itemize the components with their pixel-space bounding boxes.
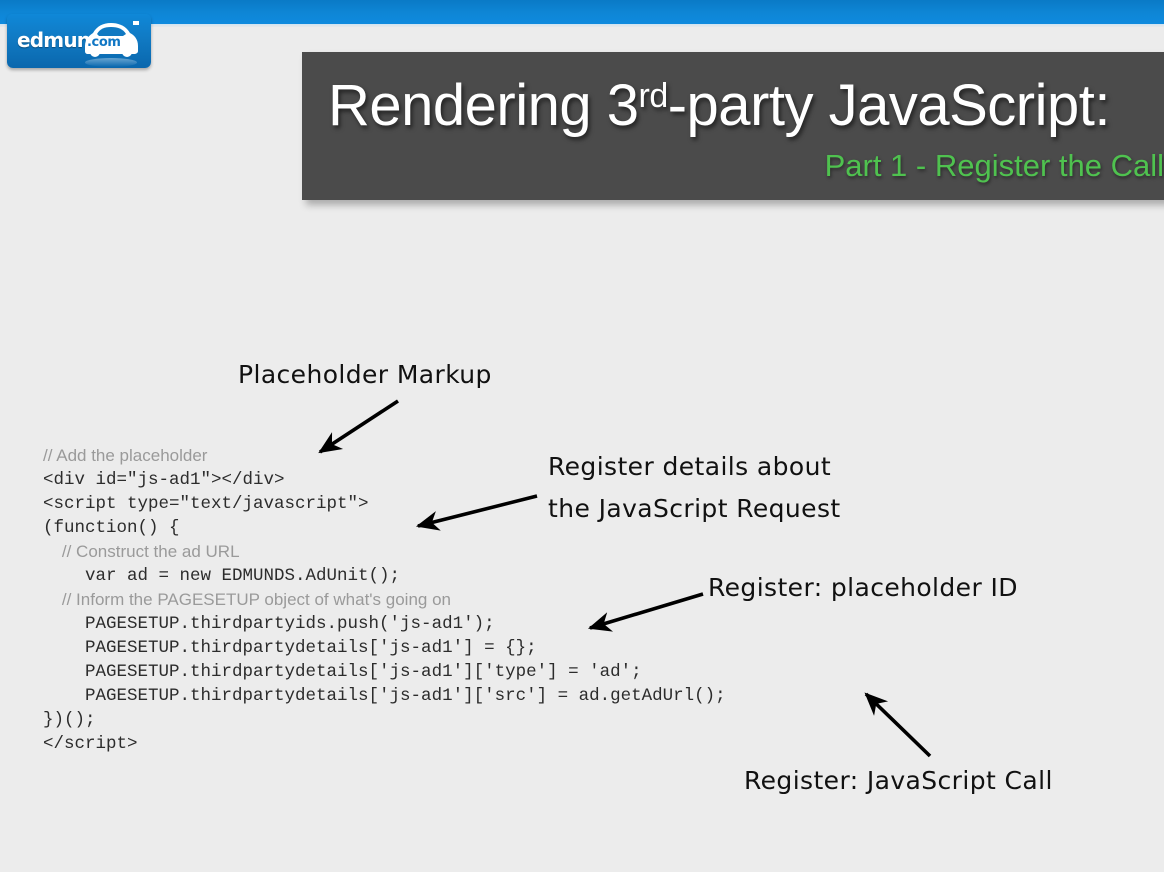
annotation-placeholder-markup: Placeholder Markup	[238, 360, 492, 389]
code-line-11: PAGESETUP.thirdpartydetails['js-ad1']['s…	[43, 684, 923, 708]
logo-dotcom-label: .com	[87, 35, 121, 50]
annotation-javascript-call: Register: JavaScript Call	[744, 766, 1053, 795]
edmunds-logo-tab[interactable]: edmunds .com	[7, 14, 151, 68]
slide-title-superscript: rd	[639, 77, 668, 115]
annotation-register-details-line1: Register details about	[548, 452, 831, 481]
code-line-12: })();	[43, 708, 923, 732]
slide-title-block: Rendering 3rd-party JavaScript: Part 1 -…	[302, 52, 1164, 200]
slide-title-prefix: Rendering 3	[328, 73, 639, 138]
logo-reflection	[85, 58, 137, 67]
code-line-9: PAGESETUP.thirdpartydetails['js-ad1'] = …	[43, 636, 923, 660]
code-line-10: PAGESETUP.thirdpartydetails['js-ad1']['t…	[43, 660, 923, 684]
browser-top-bar	[0, 0, 1164, 24]
code-line-13: </script>	[43, 732, 923, 756]
annotation-register-details-line2: the JavaScript Request	[548, 494, 841, 523]
top-bar-divider	[0, 24, 1164, 27]
slide-title: Rendering 3rd-party JavaScript:	[328, 72, 1110, 139]
code-line-8: PAGESETUP.thirdpartyids.push('js-ad1');	[43, 612, 923, 636]
slide-subtitle: Part 1 - Register the Call	[825, 148, 1164, 184]
annotation-register-details: Register details aboutthe JavaScript Req…	[548, 446, 841, 530]
annotation-placeholder-id: Register: placeholder ID	[708, 573, 1018, 602]
slide-title-suffix: -party JavaScript:	[668, 73, 1110, 138]
code-line-5: // Construct the ad URL	[43, 540, 923, 564]
